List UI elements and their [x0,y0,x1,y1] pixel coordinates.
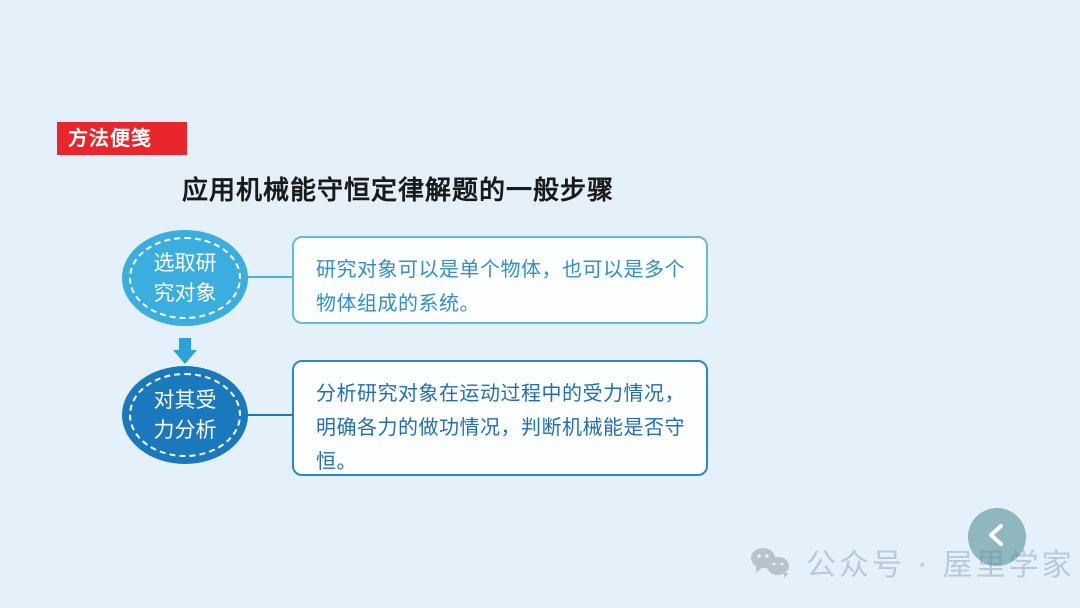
step-node-1-label: 选取研 究对象 [147,248,223,308]
step-node-2-label-line1: 对其受 [147,385,223,415]
watermark-text: 公众号 · 屋里学家 [806,540,1075,584]
watermark: 公众号 · 屋里学家 [750,540,1075,584]
step-node-2: 对其受 力分析 [122,366,248,464]
section-ribbon-label: 方法便笺 [68,122,152,155]
slide-canvas: 方法便笺 应用机械能守恒定律解题的一般步骤 选取研 究对象 对其受 力分析 研究… [0,0,1080,608]
step-node-2-label: 对其受 力分析 [147,385,223,445]
step-node-1: 选取研 究对象 [122,230,248,326]
step-description-text-2: 分析研究对象在运动过程中的受力情况，明确各力的做功情况，判断机械能是否守恒。 [316,376,686,478]
step-description-text-1: 研究对象可以是单个物体，也可以是多个物体组成的系统。 [316,252,686,320]
step-node-2-label-line2: 力分析 [147,415,223,445]
step-description-box-2: 分析研究对象在运动过程中的受力情况，明确各力的做功情况，判断机械能是否守恒。 [292,360,708,476]
connector-line-step-1 [240,276,298,278]
step-node-1-label-line2: 究对象 [147,278,223,308]
wechat-icon [750,546,792,578]
step-description-box-1: 研究对象可以是单个物体，也可以是多个物体组成的系统。 [292,236,708,324]
connector-line-step-2 [240,414,298,416]
step-node-1-label-line1: 选取研 [147,248,223,278]
page-title: 应用机械能守恒定律解题的一般步骤 [182,170,614,207]
back-button[interactable] [968,508,1026,566]
arrow-down-icon [170,336,200,366]
chevron-left-icon [982,520,1012,555]
